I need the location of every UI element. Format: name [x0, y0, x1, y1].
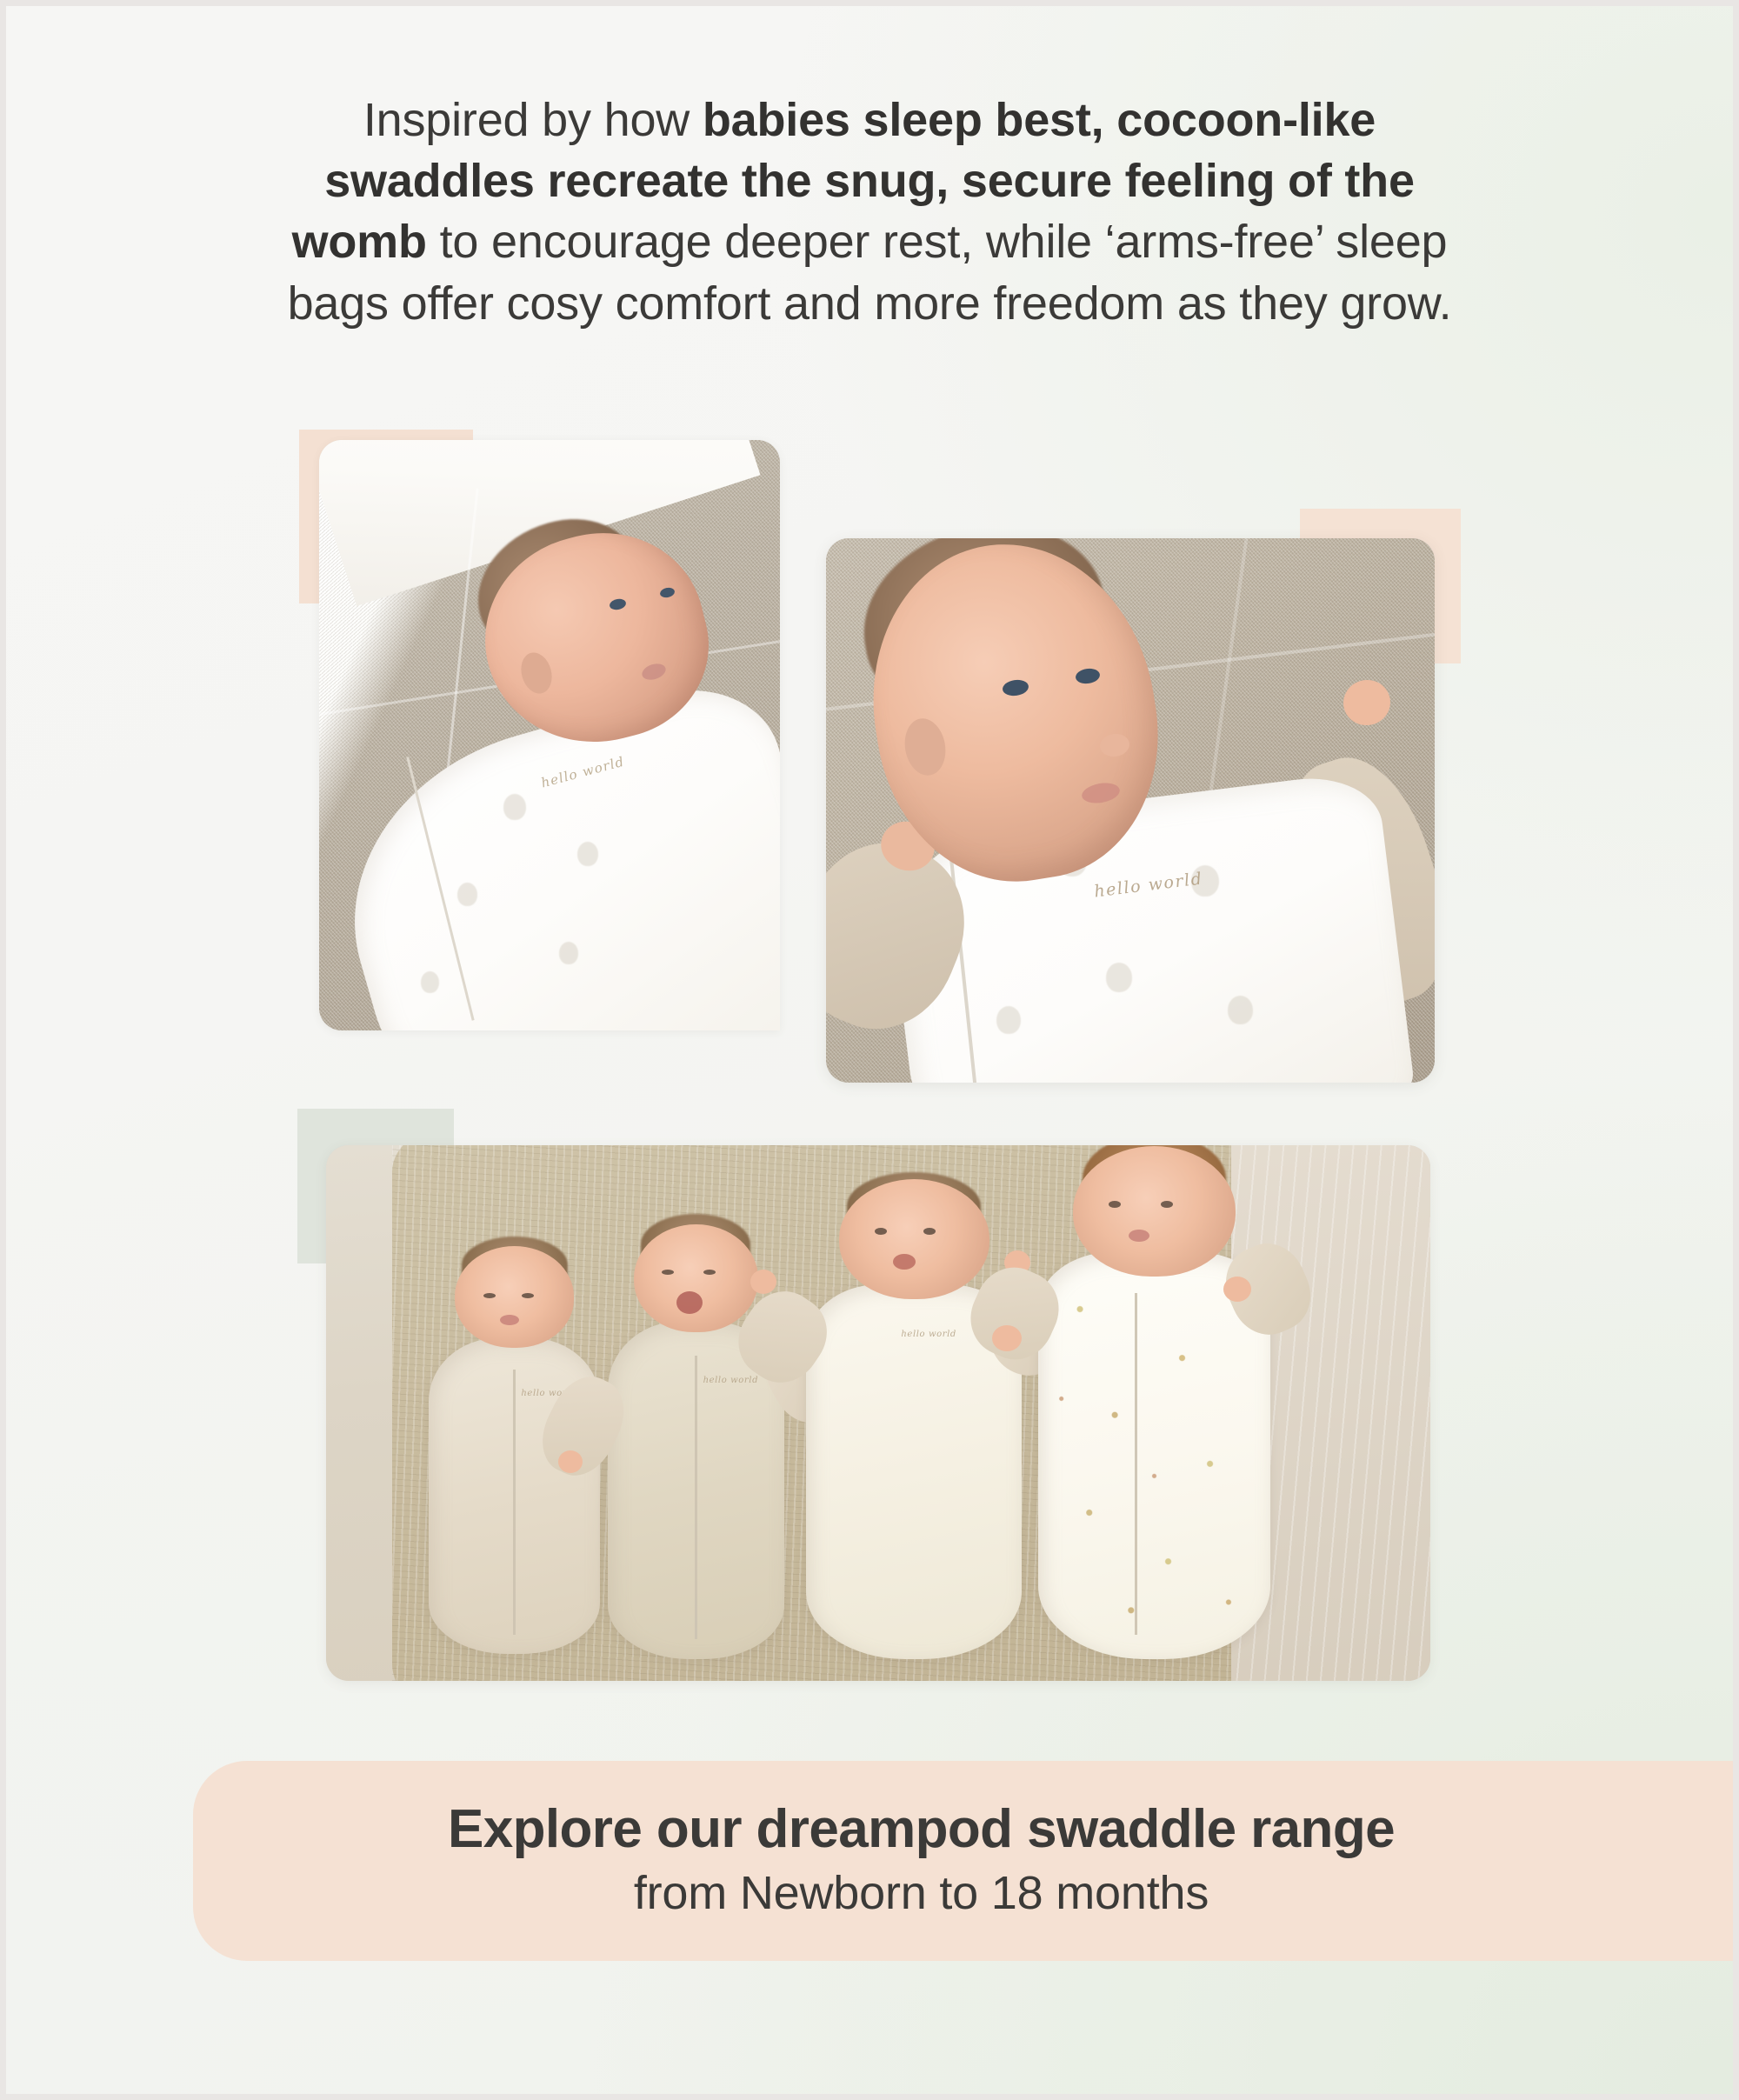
baby-large-printed-sleep-bag	[1038, 1252, 1270, 1659]
sleep-bag-zip	[695, 1356, 697, 1639]
baby-mouth	[1129, 1230, 1149, 1242]
bunny-print-motif	[1228, 996, 1253, 1024]
baby-face	[634, 1224, 757, 1332]
baby-face	[839, 1179, 989, 1299]
sleep-bag-zip	[513, 1370, 516, 1635]
baby-eye	[703, 1270, 716, 1275]
baby-eye	[1161, 1201, 1173, 1208]
baby-hand-left	[750, 1270, 776, 1294]
sleep-bag-zip	[1135, 1293, 1137, 1635]
intro-text-tail: to encourage deeper rest, while ‘arms-fr…	[288, 216, 1452, 329]
cta-banner-subtitle: from Newborn to 18 months	[634, 1866, 1209, 1922]
baby-eye	[522, 1293, 534, 1298]
baby-hand-left	[558, 1450, 583, 1473]
promo-page: Inspired by how babies sleep best, cocoo…	[6, 6, 1733, 2094]
cta-banner-title: Explore our dreampod swaddle range	[448, 1801, 1395, 1858]
baby-eye	[1109, 1201, 1121, 1208]
hello-world-embroidery: hello world	[901, 1330, 956, 1339]
photo-newborn-swaddle-wide: hello world	[319, 440, 780, 1030]
baby-eye	[875, 1228, 887, 1235]
photo-newborn-swaddle-closeup: hello world	[826, 538, 1435, 1083]
baby-face	[455, 1246, 575, 1347]
bunny-print-motif	[503, 794, 526, 820]
bunny-print-motif	[421, 971, 439, 993]
hello-world-embroidery: hello world	[703, 1376, 759, 1385]
bunny-print-motif	[559, 942, 578, 964]
bunny-print-motif	[577, 842, 598, 866]
baby-face	[1073, 1146, 1236, 1277]
baby-eye	[662, 1270, 674, 1275]
bunny-print-motif	[1106, 963, 1132, 992]
baby-mouth-smiling	[893, 1254, 916, 1270]
bunny-print-motif	[996, 1006, 1021, 1034]
baby-eye	[483, 1293, 496, 1298]
intro-paragraph: Inspired by how babies sleep best, cocoo…	[6, 90, 1733, 334]
cta-banner[interactable]: Explore our dreampod swaddle range from …	[193, 1761, 1733, 1961]
baby-mouth-yawning	[676, 1291, 703, 1314]
photo-four-babies-size-range: hello world hello world	[326, 1145, 1430, 1681]
baby-mouth	[500, 1315, 519, 1325]
intro-text-lead: Inspired by how	[363, 94, 703, 146]
bunny-print-motif	[457, 883, 477, 906]
baby-eye	[923, 1228, 936, 1235]
